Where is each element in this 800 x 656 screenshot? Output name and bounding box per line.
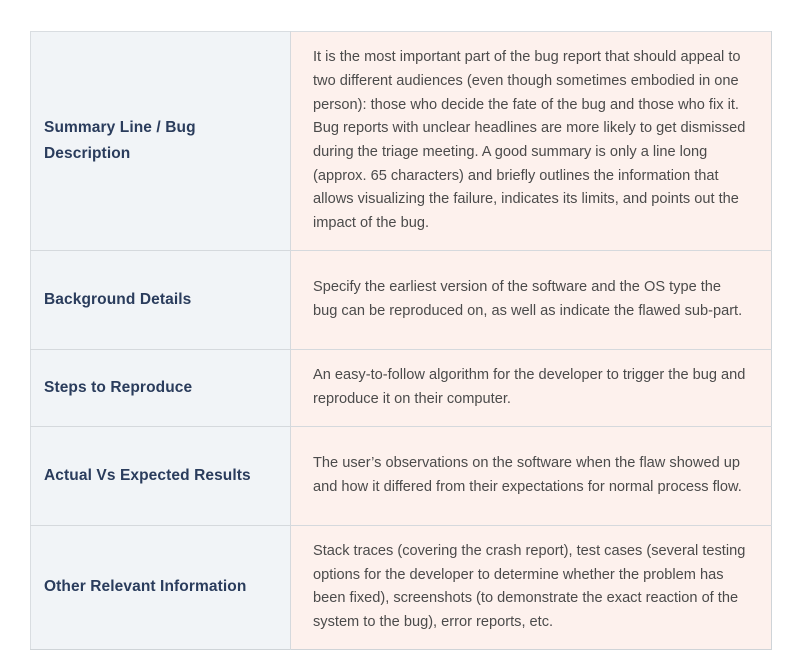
section-description-steps-to-reproduce: An easy-to-follow algorithm for the deve… xyxy=(291,350,772,427)
section-description-actual-vs-expected-results: The user’s observations on the software … xyxy=(291,427,772,526)
section-label-summary-line-bug-description: Summary Line / Bug Description xyxy=(31,32,291,251)
bug-report-sections-table: Summary Line / Bug Description It is the… xyxy=(30,31,772,650)
section-description-background-details: Specify the earliest version of the soft… xyxy=(291,251,772,350)
section-label-actual-vs-expected-results: Actual Vs Expected Results xyxy=(31,427,291,526)
table-row: Background Details Specify the earliest … xyxy=(31,251,772,350)
section-description-summary-line-bug-description: It is the most important part of the bug… xyxy=(291,32,772,251)
table-body: Summary Line / Bug Description It is the… xyxy=(31,32,772,650)
section-label-steps-to-reproduce: Steps to Reproduce xyxy=(31,350,291,427)
table-row: Steps to Reproduce An easy-to-follow alg… xyxy=(31,350,772,427)
section-label-background-details: Background Details xyxy=(31,251,291,350)
section-label-other-relevant-information: Other Relevant Information xyxy=(31,526,291,650)
table-row: Actual Vs Expected Results The user’s ob… xyxy=(31,427,772,526)
section-description-other-relevant-information: Stack traces (covering the crash report)… xyxy=(291,526,772,650)
table-row: Summary Line / Bug Description It is the… xyxy=(31,32,772,251)
table-row: Other Relevant Information Stack traces … xyxy=(31,526,772,650)
page-canvas: Summary Line / Bug Description It is the… xyxy=(0,0,800,656)
